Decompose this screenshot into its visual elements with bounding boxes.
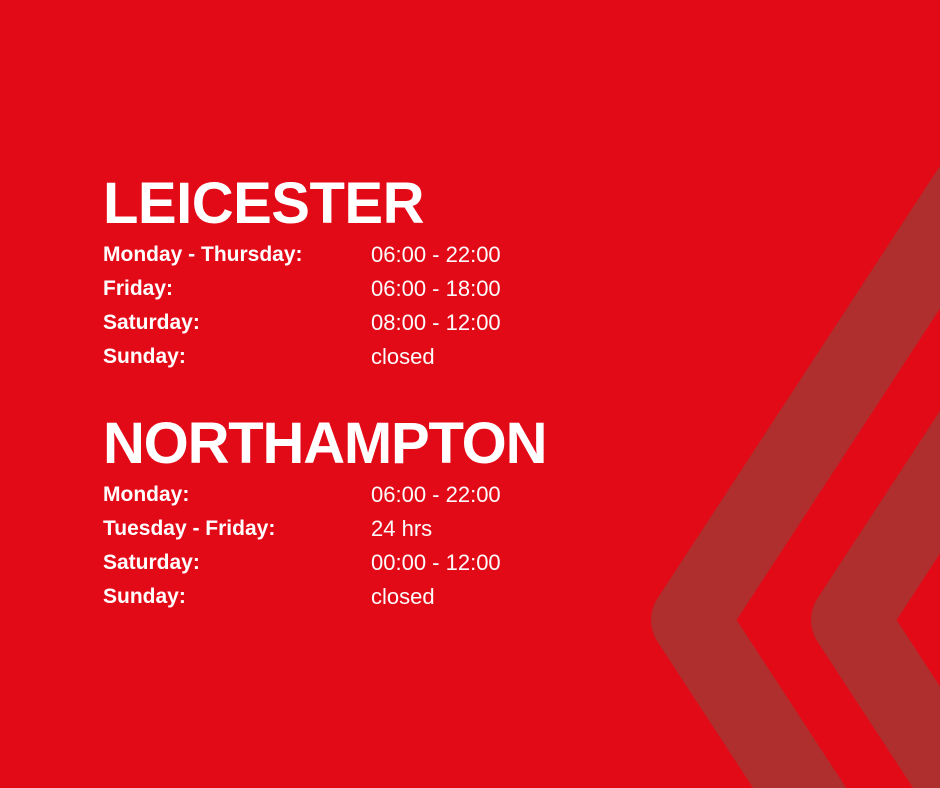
hours-value: 06:00 - 22:00	[371, 478, 501, 512]
hours-row: Saturday: 00:00 - 12:00	[103, 546, 501, 580]
day-label: Sunday:	[103, 340, 371, 374]
opening-hours-poster: LEICESTER Monday - Thursday: 06:00 - 22:…	[0, 0, 940, 788]
hours-row: Tuesday - Friday: 24 hrs	[103, 512, 501, 546]
poster-content: LEICESTER Monday - Thursday: 06:00 - 22:…	[0, 0, 940, 788]
hours-value: 24 hrs	[371, 512, 501, 546]
day-label: Saturday:	[103, 306, 371, 340]
day-label: Sunday:	[103, 580, 371, 614]
day-label: Friday:	[103, 272, 371, 306]
hours-table-northampton: Monday: 06:00 - 22:00 Tuesday - Friday: …	[103, 478, 501, 614]
hours-row: Sunday: closed	[103, 340, 501, 374]
location-title-leicester: LEICESTER	[103, 174, 501, 234]
hours-row: Friday: 06:00 - 18:00	[103, 272, 501, 306]
hours-table-leicester: Monday - Thursday: 06:00 - 22:00 Friday:…	[103, 238, 501, 374]
location-block-leicester: LEICESTER Monday - Thursday: 06:00 - 22:…	[103, 174, 501, 374]
day-label: Tuesday - Friday:	[103, 512, 371, 546]
day-label: Saturday:	[103, 546, 371, 580]
location-title-northampton: NORTHAMPTON	[103, 414, 546, 474]
hours-value: 00:00 - 12:00	[371, 546, 501, 580]
day-label: Monday - Thursday:	[103, 238, 371, 272]
day-label: Monday:	[103, 478, 371, 512]
hours-row: Sunday: closed	[103, 580, 501, 614]
hours-value: 06:00 - 22:00	[371, 238, 501, 272]
hours-value: closed	[371, 340, 501, 374]
hours-value: 06:00 - 18:00	[371, 272, 501, 306]
hours-value: closed	[371, 580, 501, 614]
hours-row: Saturday: 08:00 - 12:00	[103, 306, 501, 340]
hours-row: Monday - Thursday: 06:00 - 22:00	[103, 238, 501, 272]
location-block-northampton: NORTHAMPTON Monday: 06:00 - 22:00 Tuesda…	[103, 414, 546, 614]
hours-row: Monday: 06:00 - 22:00	[103, 478, 501, 512]
hours-value: 08:00 - 12:00	[371, 306, 501, 340]
